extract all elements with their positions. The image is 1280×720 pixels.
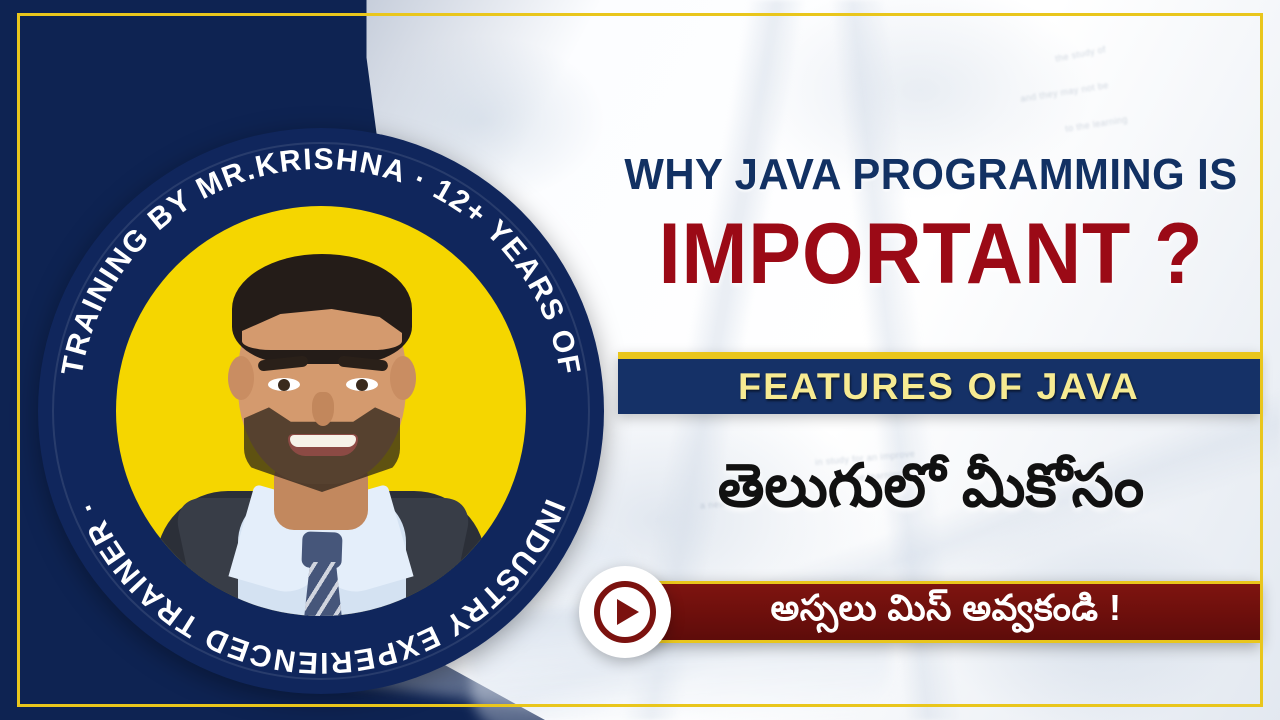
youtube-thumbnail: the study of and they may not be to the … [0,0,1280,720]
play-icon[interactable] [579,566,671,658]
cta-banner-label: అస్సలు మిస్ అవ్వకండి ! [770,587,1121,638]
headline-line-2: IMPORTANT ? [623,206,1239,302]
features-banner: FEATURES OF JAVA [618,352,1260,414]
badge-bottom-text: INDUSTRY EXPERIENCED TRAINER · [71,495,571,679]
features-banner-label: FEATURES OF JAVA [738,366,1140,408]
telugu-headline: తెలుగులో మీకోసం [596,448,1266,524]
play-icon-triangle [617,599,639,625]
trainer-badge: TRAINING BY MR.KRISHNA · 12+ YEARS OF IN… [38,128,604,694]
badge-top-text: TRAINING BY MR.KRISHNA · 12+ YEARS OF [56,143,587,378]
badge-curved-text: TRAINING BY MR.KRISHNA · 12+ YEARS OF IN… [38,128,604,694]
play-icon-ring [594,581,656,643]
cta-banner: అస్సలు మిస్ అవ్వకండి ! [632,581,1260,643]
headline-line-1: WHY JAVA PROGRAMMING IS [613,150,1250,200]
